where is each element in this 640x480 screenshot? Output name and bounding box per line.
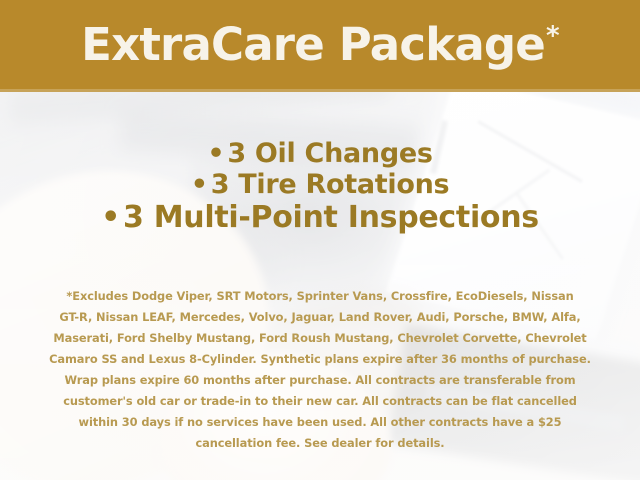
benefit-item-oil-changes: •3 Oil Changes bbox=[0, 138, 640, 169]
page-title: ExtraCare Package* bbox=[81, 22, 559, 67]
disclaimer-line: GT-R, Nissan LEAF, Mercedes, Volvo, Jagu… bbox=[28, 307, 612, 328]
benefit-item-multi-point-inspections: •3 Multi-Point Inspections bbox=[0, 201, 640, 236]
disclaimer-line: cancellation fee. See dealer for details… bbox=[28, 433, 612, 454]
disclaimer-text: *Excludes Dodge Viper, SRT Motors, Sprin… bbox=[28, 286, 612, 454]
bullet-dot-icon: • bbox=[207, 138, 224, 169]
disclaimer-line: *Excludes Dodge Viper, SRT Motors, Sprin… bbox=[28, 286, 612, 307]
page-title-asterisk: * bbox=[546, 21, 559, 51]
benefit-item-label: 3 Tire Rotations bbox=[211, 169, 450, 200]
benefit-item-label: 3 Oil Changes bbox=[227, 138, 432, 169]
header-bar: ExtraCare Package* bbox=[0, 0, 640, 92]
benefits-list: •3 Oil Changes •3 Tire Rotations •3 Mult… bbox=[0, 138, 640, 235]
bullet-dot-icon: • bbox=[191, 169, 208, 200]
benefit-item-tire-rotations: •3 Tire Rotations bbox=[0, 169, 640, 200]
benefit-item-label: 3 Multi-Point Inspections bbox=[123, 200, 539, 235]
disclaimer-line: within 30 days if no services have been … bbox=[28, 412, 612, 433]
disclaimer-line: Camaro SS and Lexus 8-Cylinder. Syntheti… bbox=[28, 349, 612, 370]
extracare-package-banner: ExtraCare Package* •3 Oil Changes •3 Tir… bbox=[0, 0, 640, 480]
disclaimer-line: Wrap plans expire 60 months after purcha… bbox=[28, 370, 612, 391]
page-title-text: ExtraCare Package bbox=[81, 18, 545, 71]
disclaimer-line: customer's old car or trade-in to their … bbox=[28, 391, 612, 412]
disclaimer-line: Maserati, Ford Shelby Mustang, Ford Rous… bbox=[28, 328, 612, 349]
bullet-dot-icon: • bbox=[101, 200, 120, 235]
